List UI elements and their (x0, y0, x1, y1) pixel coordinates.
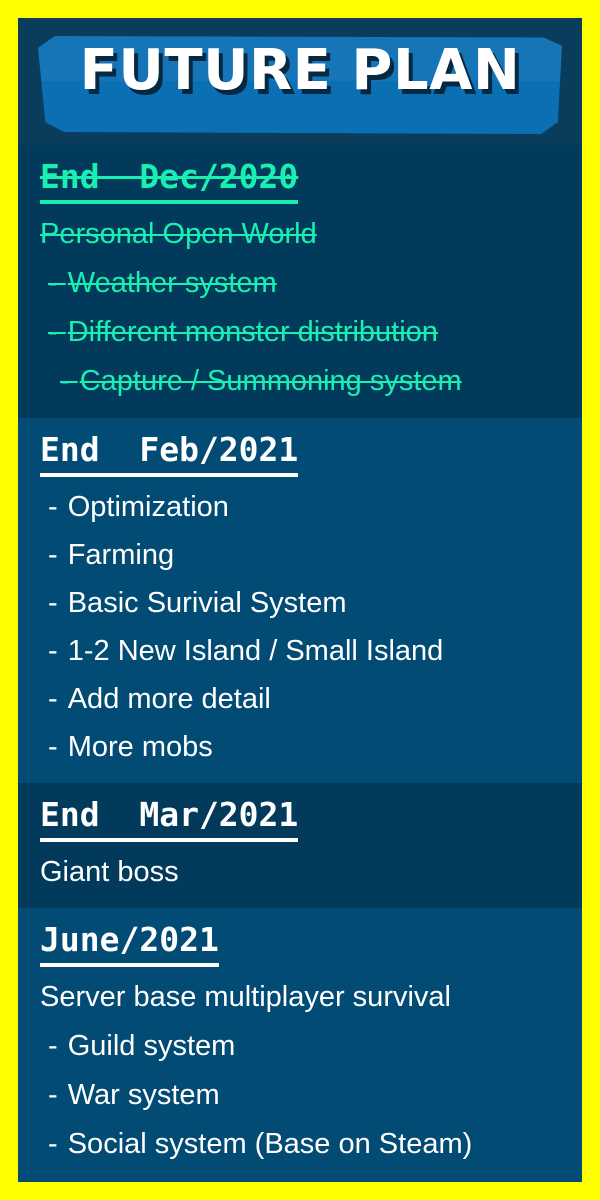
list-item-label: Optimization (68, 491, 229, 523)
dash-bullet-icon: - (48, 1079, 68, 1111)
title-banner: FUTURE PLAN (18, 18, 582, 145)
list-item: - Farming (48, 531, 582, 579)
list-item-label: Farming (68, 539, 174, 571)
list-item: Server base multiplayer survival (40, 973, 582, 1022)
section-item-list: Personal Open World- Weather system- Dif… (18, 210, 582, 406)
list-item: - Add more detail (48, 675, 582, 723)
section-item-list: Giant boss (18, 848, 582, 896)
dash-bullet-icon: - (48, 491, 68, 523)
list-item-label: Giant boss (40, 856, 179, 888)
list-item: - Weather system (48, 259, 582, 308)
list-item-label: Basic Surivial System (68, 587, 347, 619)
list-item: - Guild system (48, 1022, 582, 1071)
roadmap-section: End Mar/2021Giant boss (18, 783, 582, 908)
roadmap-section: End Feb/2021- Optimization- Farming- Bas… (18, 418, 582, 783)
list-item: - 1-2 New Island / Small Island (48, 627, 582, 675)
roadmap-sections: End Dec/2020Personal Open World- Weather… (18, 145, 582, 1181)
list-item: Personal Open World (40, 210, 582, 259)
list-item: Giant boss (40, 848, 582, 896)
section-header: End Feb/2021 (40, 430, 298, 477)
dash-bullet-icon: - (48, 1128, 68, 1160)
list-item-label: War system (68, 1079, 220, 1111)
list-item-label: Weather system (68, 267, 277, 299)
list-item-label: 1-2 New Island / Small Island (68, 635, 444, 667)
dash-bullet-icon: - (60, 365, 80, 397)
section-header-row: End Feb/2021 (18, 428, 582, 479)
poster-inner: FUTURE PLAN End Dec/2020Personal Open Wo… (18, 18, 582, 1182)
dash-bullet-icon: - (48, 635, 68, 667)
section-header: End Mar/2021 (40, 795, 298, 842)
roadmap-section: June/2021Server base multiplayer surviva… (18, 908, 582, 1181)
dash-bullet-icon: - (48, 731, 68, 763)
section-header-row: End Mar/2021 (18, 793, 582, 844)
list-item: - More mobs (48, 723, 582, 771)
section-item-list: Server base multiplayer survival- Guild … (18, 973, 582, 1169)
section-header: End Dec/2020 (40, 157, 298, 204)
list-item: - Capture / Summoning system (60, 357, 582, 406)
list-item-label: Guild system (68, 1030, 236, 1062)
section-header-row: End Dec/2020 (18, 155, 582, 206)
list-item-label: Different monster distribution (68, 316, 438, 348)
future-plan-poster: FUTURE PLAN End Dec/2020Personal Open Wo… (0, 0, 600, 1200)
page-title: FUTURE PLAN (18, 40, 582, 102)
section-header: June/2021 (40, 920, 219, 967)
list-item-label: Server base multiplayer survival (40, 981, 451, 1013)
section-item-list: - Optimization- Farming- Basic Surivial … (18, 483, 582, 771)
dash-bullet-icon: - (48, 539, 68, 571)
dash-bullet-icon: - (48, 1030, 68, 1062)
list-item-label: Add more detail (68, 683, 271, 715)
roadmap-section: End Dec/2020Personal Open World- Weather… (18, 145, 582, 418)
dash-bullet-icon: - (48, 683, 68, 715)
section-header-row: June/2021 (18, 918, 582, 969)
list-item: - Optimization (48, 483, 582, 531)
list-item-label: More mobs (68, 731, 213, 763)
list-item: - War system (48, 1071, 582, 1120)
list-item: - Social system (Base on Steam) (48, 1120, 582, 1169)
list-item: - Different monster distribution (48, 308, 582, 357)
dash-bullet-icon: - (48, 267, 68, 299)
list-item-label: Personal Open World (40, 218, 317, 250)
list-item-label: Capture / Summoning system (80, 365, 462, 397)
list-item-label: Social system (Base on Steam) (68, 1128, 473, 1160)
dash-bullet-icon: - (48, 587, 68, 619)
list-item: - Basic Surivial System (48, 579, 582, 627)
dash-bullet-icon: - (48, 316, 68, 348)
